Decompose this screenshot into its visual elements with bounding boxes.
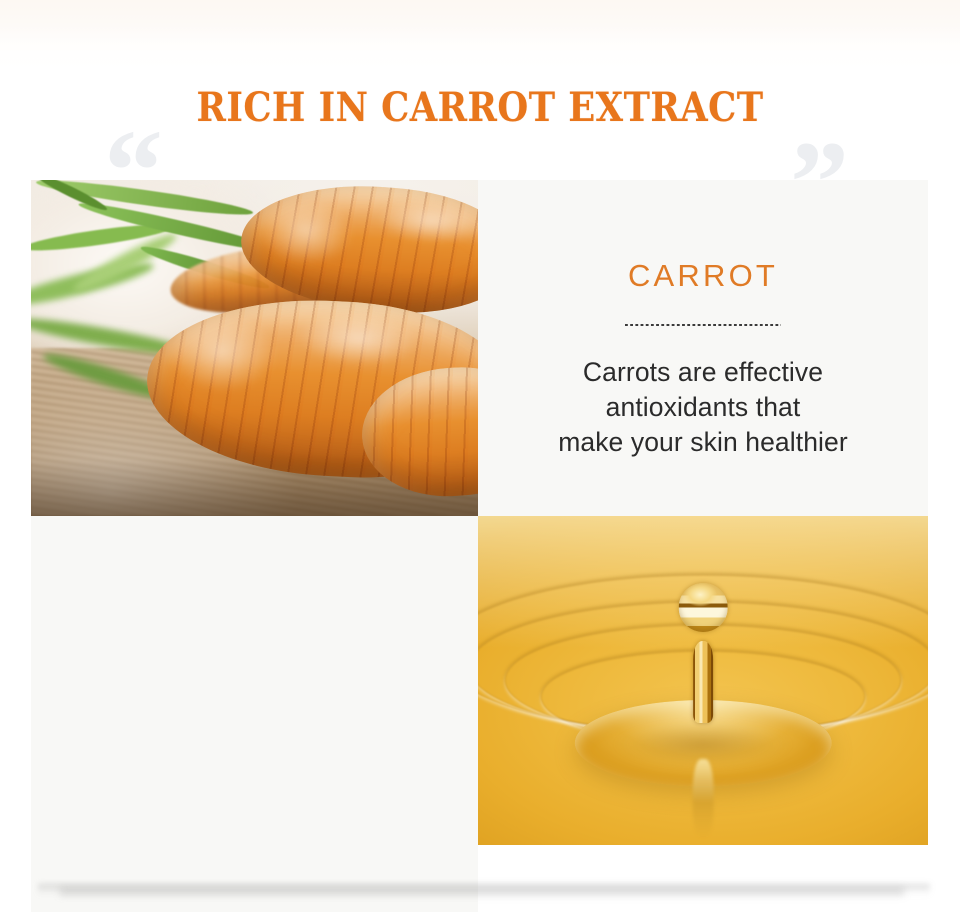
oil-droplet [679,583,728,632]
carrots-photo [31,180,478,516]
glycerin-info-panel: GLYCERIN Arbutin whitening ingredient [31,516,478,912]
ingredient-title-carrot: CARROT [628,260,778,291]
description-line: make your skin healthier [483,425,923,460]
headline-band: “ RICH IN CARROT EXTRACT ” [0,62,960,160]
product-feature-card: “ RICH IN CARROT EXTRACT ” [0,0,960,912]
carrot-info-panel: CARROT Carrots are effective antioxidant… [478,180,928,516]
oil-column-reflection [693,759,714,838]
oil-column [693,641,713,723]
ingredient-description-carrot: Carrots are effective antioxidants that … [483,355,923,460]
description-line: Carrots are effective [483,355,923,390]
description-line: antioxidants that [483,390,923,425]
card-drop-shadow-core [60,888,904,895]
oil-droplet-photo [478,516,928,845]
page-title: RICH IN CARROT EXTRACT [55,88,905,128]
ingredients-grid: CARROT Carrots are effective antioxidant… [31,180,928,845]
divider-dotted [625,323,781,326]
